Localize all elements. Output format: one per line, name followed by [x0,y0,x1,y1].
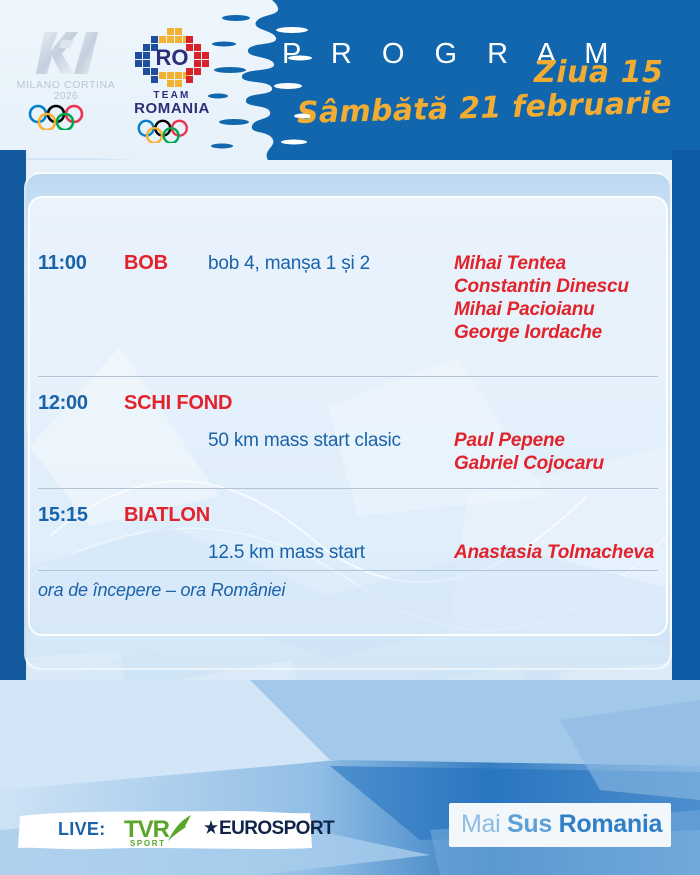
left-blue-band [0,150,26,680]
team-romania-emblem-icon: RO [129,26,215,88]
athlete-name: Mihai Pacioianu [454,298,629,321]
slogan-part-romania: Romania [559,810,662,838]
live-label: LIVE: [58,819,106,840]
day-label: Ziua 15 [534,55,663,90]
row-time: 11:00 [38,252,87,275]
row-sport: BIATLON [124,504,210,527]
live-broadcast-strip: LIVE: TVR SPORT EUROSPORT [14,808,314,852]
athlete-name: Paul Pepene [454,429,604,452]
olympic-rings-icon [133,119,211,143]
row-athletes: Paul Pepene Gabriel Cojocaru [454,429,604,475]
right-blue-band [672,150,700,680]
row-event: bob 4, manșa 1 și 2 [208,253,370,275]
team-romania-logo: RO TEAM ROMANIA [120,26,224,138]
mai-sus-romania-slogan: Mai Sus Romania [461,810,662,839]
milano-cortina-year: 2026 [14,91,118,102]
milano-cortina-name: MILANO CORTINA [14,79,118,91]
athlete-name: George Iordache [454,321,629,344]
row-divider [38,570,658,571]
row-sport: BOB [124,252,168,275]
tvr-swoosh-icon [164,813,194,843]
schedule-list: 11:00 BOB bob 4, manșa 1 și 2 Mihai Tent… [28,196,668,636]
row-athletes: Mihai Tentea Constantin Dinescu Mihai Pa… [454,252,629,344]
athlete-name: Mihai Tentea [454,252,629,275]
eurosport-logo[interactable]: EUROSPORT [219,818,334,840]
olympic-rings-icon [24,104,108,130]
milano-cortina-logo: MILANO CORTINA 2026 [14,26,118,134]
tvr-sport-sublabel: SPORT [130,839,166,848]
svg-text:RO: RO [156,45,189,70]
team-romania-name-label: ROMANIA [120,101,224,117]
schedule-note: ora de începere – ora României [38,580,285,601]
mai-sus-romania-badge: Mai Sus Romania [449,803,671,847]
athlete-name: Anastasia Tolmacheva [454,541,654,564]
slogan-part-sus: Sus [507,810,559,838]
slogan-part-mai: Mai [461,810,507,838]
row-event: 50 km mass start clasic [208,430,401,452]
row-athletes: Anastasia Tolmacheva [454,541,654,564]
eurosport-logo-text: EUROSPORT [219,818,334,839]
row-time: 12:00 [38,392,88,415]
poster-footer: LIVE: TVR SPORT EUROSPORT Mai Sus Romani… [0,680,700,875]
eurosport-star-icon [203,820,219,836]
row-time: 15:15 [38,504,88,527]
row-sport: SCHI FOND [124,392,232,415]
logo-group: MILANO CORTINA 2026 [0,0,260,160]
athlete-name: Gabriel Cojocaru [454,452,604,475]
athlete-name: Constantin Dinescu [454,275,629,298]
poster-header: MILANO CORTINA 2026 [0,0,700,160]
poster-canvas: MILANO CORTINA 2026 [0,0,700,875]
row-divider [38,376,658,377]
row-event: 12.5 km mass start [208,542,365,564]
milano-cortina-emblem-icon [14,26,118,78]
row-divider [38,488,658,489]
tvr-sport-logo[interactable]: TVR SPORT [124,811,214,851]
